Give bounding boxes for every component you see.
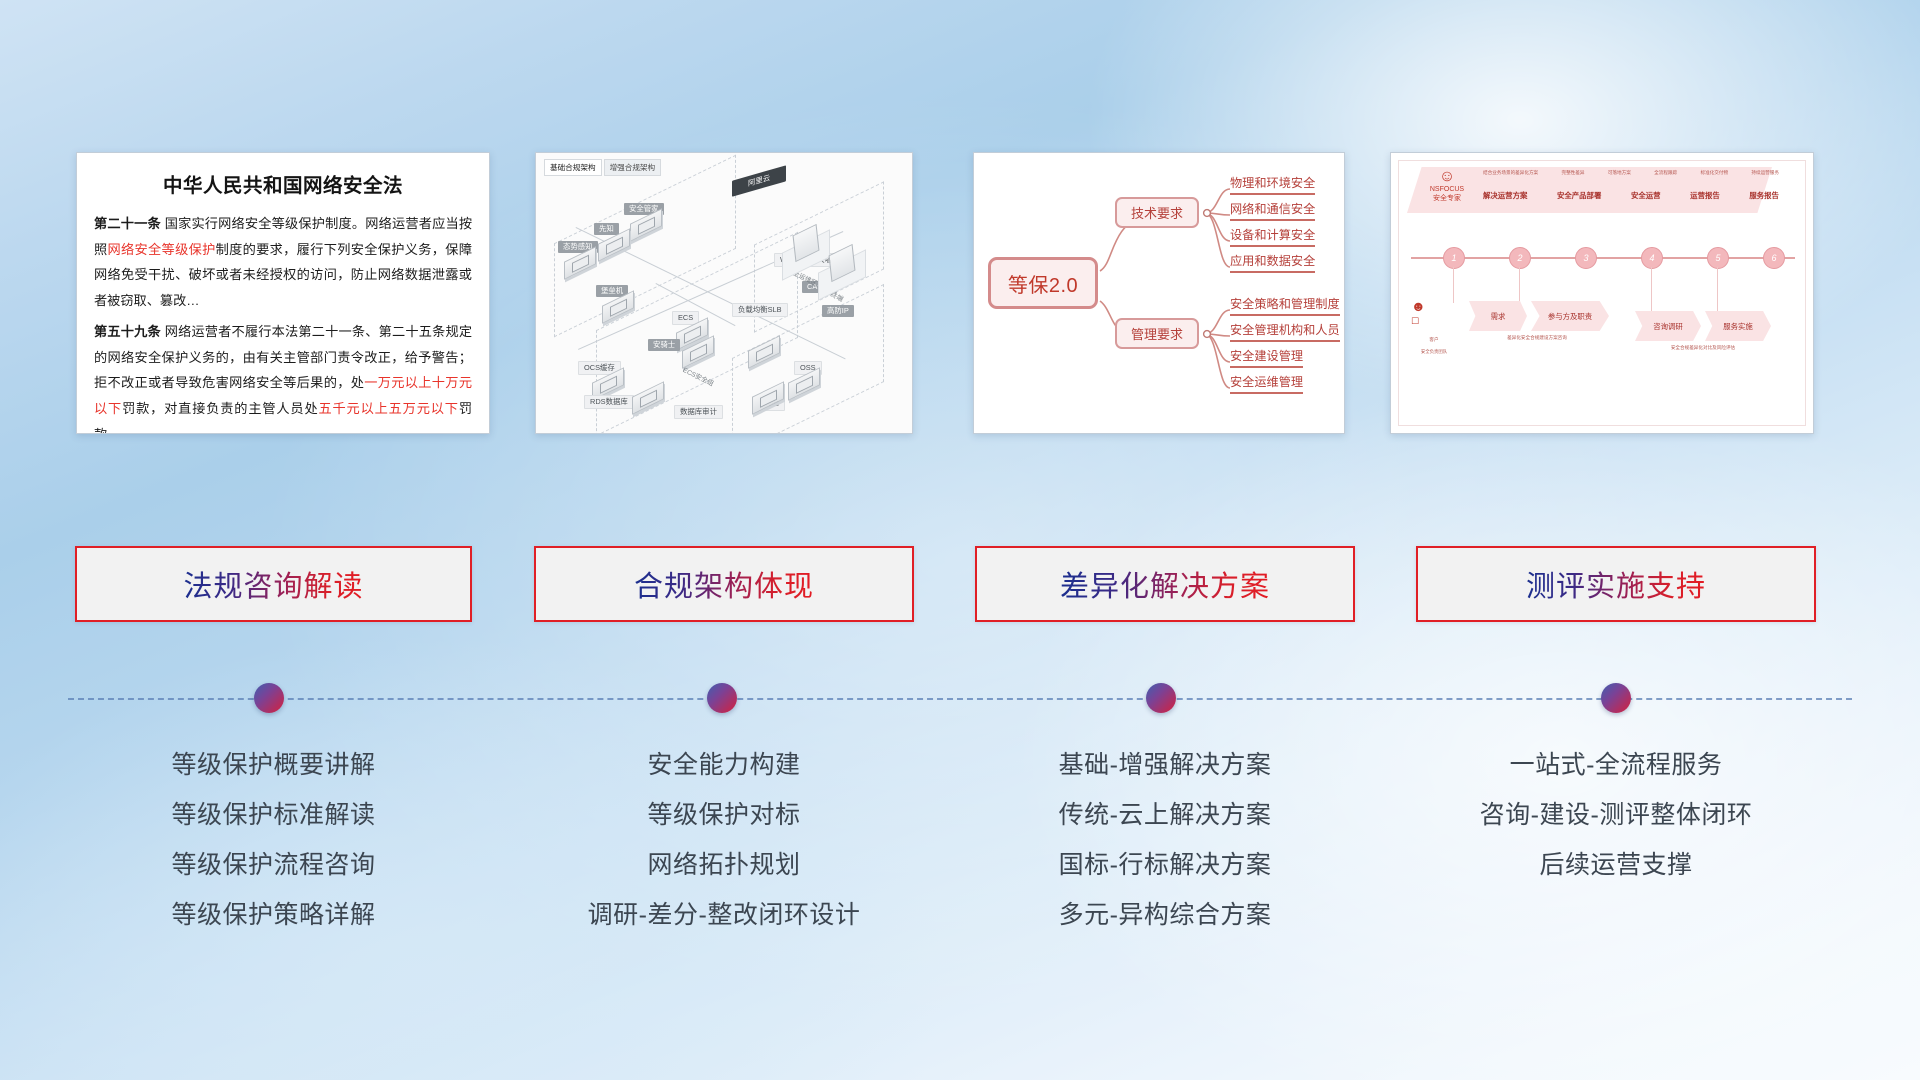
list-item: 等级保护标准解读 (75, 790, 472, 840)
mindmap-root-node[interactable]: 等保2.0 (988, 257, 1098, 309)
banner-note-2: 可落地方案 (1608, 170, 1631, 176)
timeline-lead-4 (1651, 267, 1652, 313)
banner-item-1: 安全产品部署 (1557, 190, 1601, 201)
list-item: 咨询-建设-测评整体闭环 (1416, 790, 1816, 840)
timeline-lead-1 (1453, 267, 1454, 303)
section-items-3: 基础-增强解决方案 传统-云上解决方案 国标-行标解决方案 多元-异构综合方案 (975, 740, 1355, 940)
timeline-step-2[interactable]: 2 (1509, 247, 1531, 269)
timeline-expert-block: ☺ NSFOCUS 安全专家 (1417, 169, 1477, 204)
list-item: 等级保护对标 (534, 790, 914, 840)
mindmap-leaf-network-comm[interactable]: 网络和通信安全 (1230, 201, 1315, 221)
client-person-icon: ☻ (1411, 299, 1426, 313)
timeline-note-0: 差异化安全合规建设方案咨询 (1469, 335, 1605, 342)
card-mindmap-dengbao[interactable]: 等保2.0 技术要求 管理要求 物理和环境安全 网络和通信安全 设备和计算安全 … (973, 152, 1345, 434)
section-header-1-label: 法规咨询解读 (183, 563, 363, 605)
mindmap-branch-technical[interactable]: 技术要求 (1115, 197, 1199, 228)
person-star-icon: ☺ (1417, 169, 1477, 185)
mindmap-leaf-construction-mgmt[interactable]: 安全建设管理 (1230, 348, 1303, 368)
section-items-1: 等级保护概要讲解 等级保护标准解读 等级保护流程咨询 等级保护策略详解 (75, 740, 472, 940)
banner-item-4: 服务报告 (1749, 190, 1779, 201)
list-item: 基础-增强解决方案 (975, 740, 1355, 790)
timeline-step-5[interactable]: 5 (1707, 247, 1729, 269)
tab-enhanced-architecture[interactable]: 增强合规架构 (604, 159, 662, 176)
mindmap-leaf-policy-system[interactable]: 安全策略和管理制度 (1230, 296, 1340, 316)
mindmap-leaf-operation-mgmt[interactable]: 安全运维管理 (1230, 374, 1303, 394)
timeline-node-2[interactable] (707, 683, 737, 713)
list-item: 等级保护流程咨询 (75, 840, 472, 890)
list-item: 一站式-全流程服务 (1416, 740, 1816, 790)
timeline-note-1: 安全合规差异化对比及风险评估 (1635, 345, 1771, 352)
list-item: 等级保护策略详解 (75, 890, 472, 940)
banner-note-4: 标准化交付物 (1700, 170, 1728, 176)
list-item: 后续运营支撑 (1416, 840, 1816, 890)
section-header-3-label: 差异化解决方案 (1060, 563, 1270, 605)
list-item: 国标-行标解决方案 (975, 840, 1355, 890)
timeline-step-3[interactable]: 3 (1575, 247, 1597, 269)
mindmap-leaf-physical-env[interactable]: 物理和环境安全 (1230, 175, 1315, 195)
banner-item-2: 安全运营 (1631, 190, 1661, 201)
chip-rds: RDS数据库 (584, 395, 634, 409)
timeline-lead-2 (1519, 267, 1520, 303)
timeline-left-role: 客户 (1405, 337, 1463, 344)
chip-slb: 负载均衡SLB (732, 303, 788, 317)
mindmap-leaf-org-personnel[interactable]: 安全管理机构和人员 (1230, 322, 1340, 342)
timeline-node-4[interactable] (1601, 683, 1631, 713)
law-article-59-label: 第五十九条 (94, 324, 161, 339)
expert-role: 安全专家 (1433, 195, 1461, 202)
timeline-chevron-consulting[interactable]: 咨询调研 (1635, 311, 1701, 341)
law-article-21: 第二十一条 国家实行网络安全等级保护制度。网络运营者应当按照网络安全等级保护制度… (94, 211, 472, 314)
section-header-3[interactable]: 差异化解决方案 (975, 546, 1355, 622)
timeline-node-3[interactable] (1146, 683, 1176, 713)
card-service-timeline[interactable]: ☺ NSFOCUS 安全专家 结合业务场景的差异化方案 完整性差异 可落地方案 … (1390, 152, 1814, 434)
list-item: 多元-异构综合方案 (975, 890, 1355, 940)
list-item: 调研-差分-整改闭环设计 (534, 890, 914, 940)
law-article-21-highlight: 网络安全等级保护 (108, 242, 216, 257)
timeline-left-note: 安全负责团队 (1397, 349, 1471, 356)
list-item: 网络拓扑规划 (534, 840, 914, 890)
section-items-4: 一站式-全流程服务 咨询-建设-测评整体闭环 后续运营支撑 (1416, 740, 1816, 890)
mindmap-branch-management[interactable]: 管理要求 (1115, 318, 1199, 349)
law-article-59-text-b: 罚款，对直接负责的主管人员处 (122, 401, 318, 416)
timeline-chevron-requirement[interactable]: 需求 (1469, 301, 1527, 331)
section-header-4-label: 测评实施支持 (1526, 563, 1706, 605)
timeline-step-1[interactable]: 1 (1443, 247, 1465, 269)
timeline-chevron-implementation[interactable]: 服务实施 (1705, 311, 1771, 341)
mindmap-leaf-device-compute[interactable]: 设备和计算安全 (1230, 227, 1315, 247)
mindmap-leaf-app-data[interactable]: 应用和数据安全 (1230, 253, 1315, 273)
list-item: 等级保护概要讲解 (75, 740, 472, 790)
card-cloud-architecture[interactable]: 基础合规架构 增强合规架构 阿里云 安全管家 先知 (535, 152, 913, 434)
chip-anqishi: 安骑士 (648, 339, 680, 351)
chip-anti-ddos-ip: 高防IP (822, 305, 854, 317)
section-header-1[interactable]: 法规咨询解读 (75, 546, 472, 622)
timeline-step-6[interactable]: 6 (1763, 247, 1785, 269)
law-article-59-highlight-2: 五千元以上五万元以下 (319, 401, 459, 416)
timeline-node-1[interactable] (254, 683, 284, 713)
screenshot-cards-row: 中华人民共和国网络安全法 第二十一条 国家实行网络安全等级保护制度。网络运营者应… (0, 152, 1920, 442)
banner-item-3: 运营报告 (1690, 190, 1720, 201)
timeline-lead-5 (1717, 267, 1718, 313)
chip-xianzhi: 先知 (594, 223, 619, 235)
card-cybersecurity-law[interactable]: 中华人民共和国网络安全法 第二十一条 国家实行网络安全等级保护制度。网络运营者应… (76, 152, 490, 434)
architecture-tabs[interactable]: 基础合规架构 增强合规架构 (544, 159, 661, 176)
timeline-banner-items: 解决运营方案 安全产品部署 安全运营 运营报告 服务报告 (1483, 190, 1779, 201)
chip-aliyun: 阿里云 (732, 165, 786, 197)
timeline-banner-notes: 结合业务场景的差异化方案 完整性差异 可落地方案 全流程跟踪 标准化交付物 持续… (1483, 170, 1779, 176)
section-header-2-label: 合规架构体现 (634, 563, 814, 605)
list-item: 安全能力构建 (534, 740, 914, 790)
client-checklist-icon: ☐ (1411, 317, 1419, 326)
law-article-21-label: 第二十一条 (94, 216, 161, 231)
banner-note-5: 持续运营服务 (1751, 170, 1779, 176)
banner-note-3: 全流程跟踪 (1654, 170, 1677, 176)
architecture-canvas: 阿里云 安全管家 先知 态势感知 堡垒机 ECS 安骑士 负载均衡SLB Web… (536, 153, 912, 433)
law-article-59: 第五十九条 网络运营者不履行本法第二十一条、第二十五条规定的网络安全保护义务的，… (94, 319, 472, 434)
section-header-4[interactable]: 测评实施支持 (1416, 546, 1816, 622)
chip-db-audit: 数据库审计 (674, 405, 723, 419)
banner-item-0: 解决运营方案 (1483, 190, 1527, 201)
list-item: 传统-云上解决方案 (975, 790, 1355, 840)
slide-canvas: 中华人民共和国网络安全法 第二十一条 国家实行网络安全等级保护制度。网络运营者应… (0, 0, 1920, 1080)
timeline-step-4[interactable]: 4 (1641, 247, 1663, 269)
section-items-2: 安全能力构建 等级保护对标 网络拓扑规划 调研-差分-整改闭环设计 (534, 740, 914, 940)
tab-basic-architecture[interactable]: 基础合规架构 (544, 159, 602, 176)
timeline-dashed-line (68, 698, 1852, 700)
timeline-axis (1411, 257, 1795, 259)
banner-note-1: 完整性差异 (1561, 170, 1584, 176)
section-header-2[interactable]: 合规架构体现 (534, 546, 914, 622)
law-title: 中华人民共和国网络安全法 (94, 169, 472, 198)
timeline-chevron-participants[interactable]: 参与方及职责 (1531, 301, 1609, 331)
expert-brand: NSFOCUS (1430, 186, 1464, 193)
banner-note-0: 结合业务场景的差异化方案 (1483, 170, 1538, 176)
